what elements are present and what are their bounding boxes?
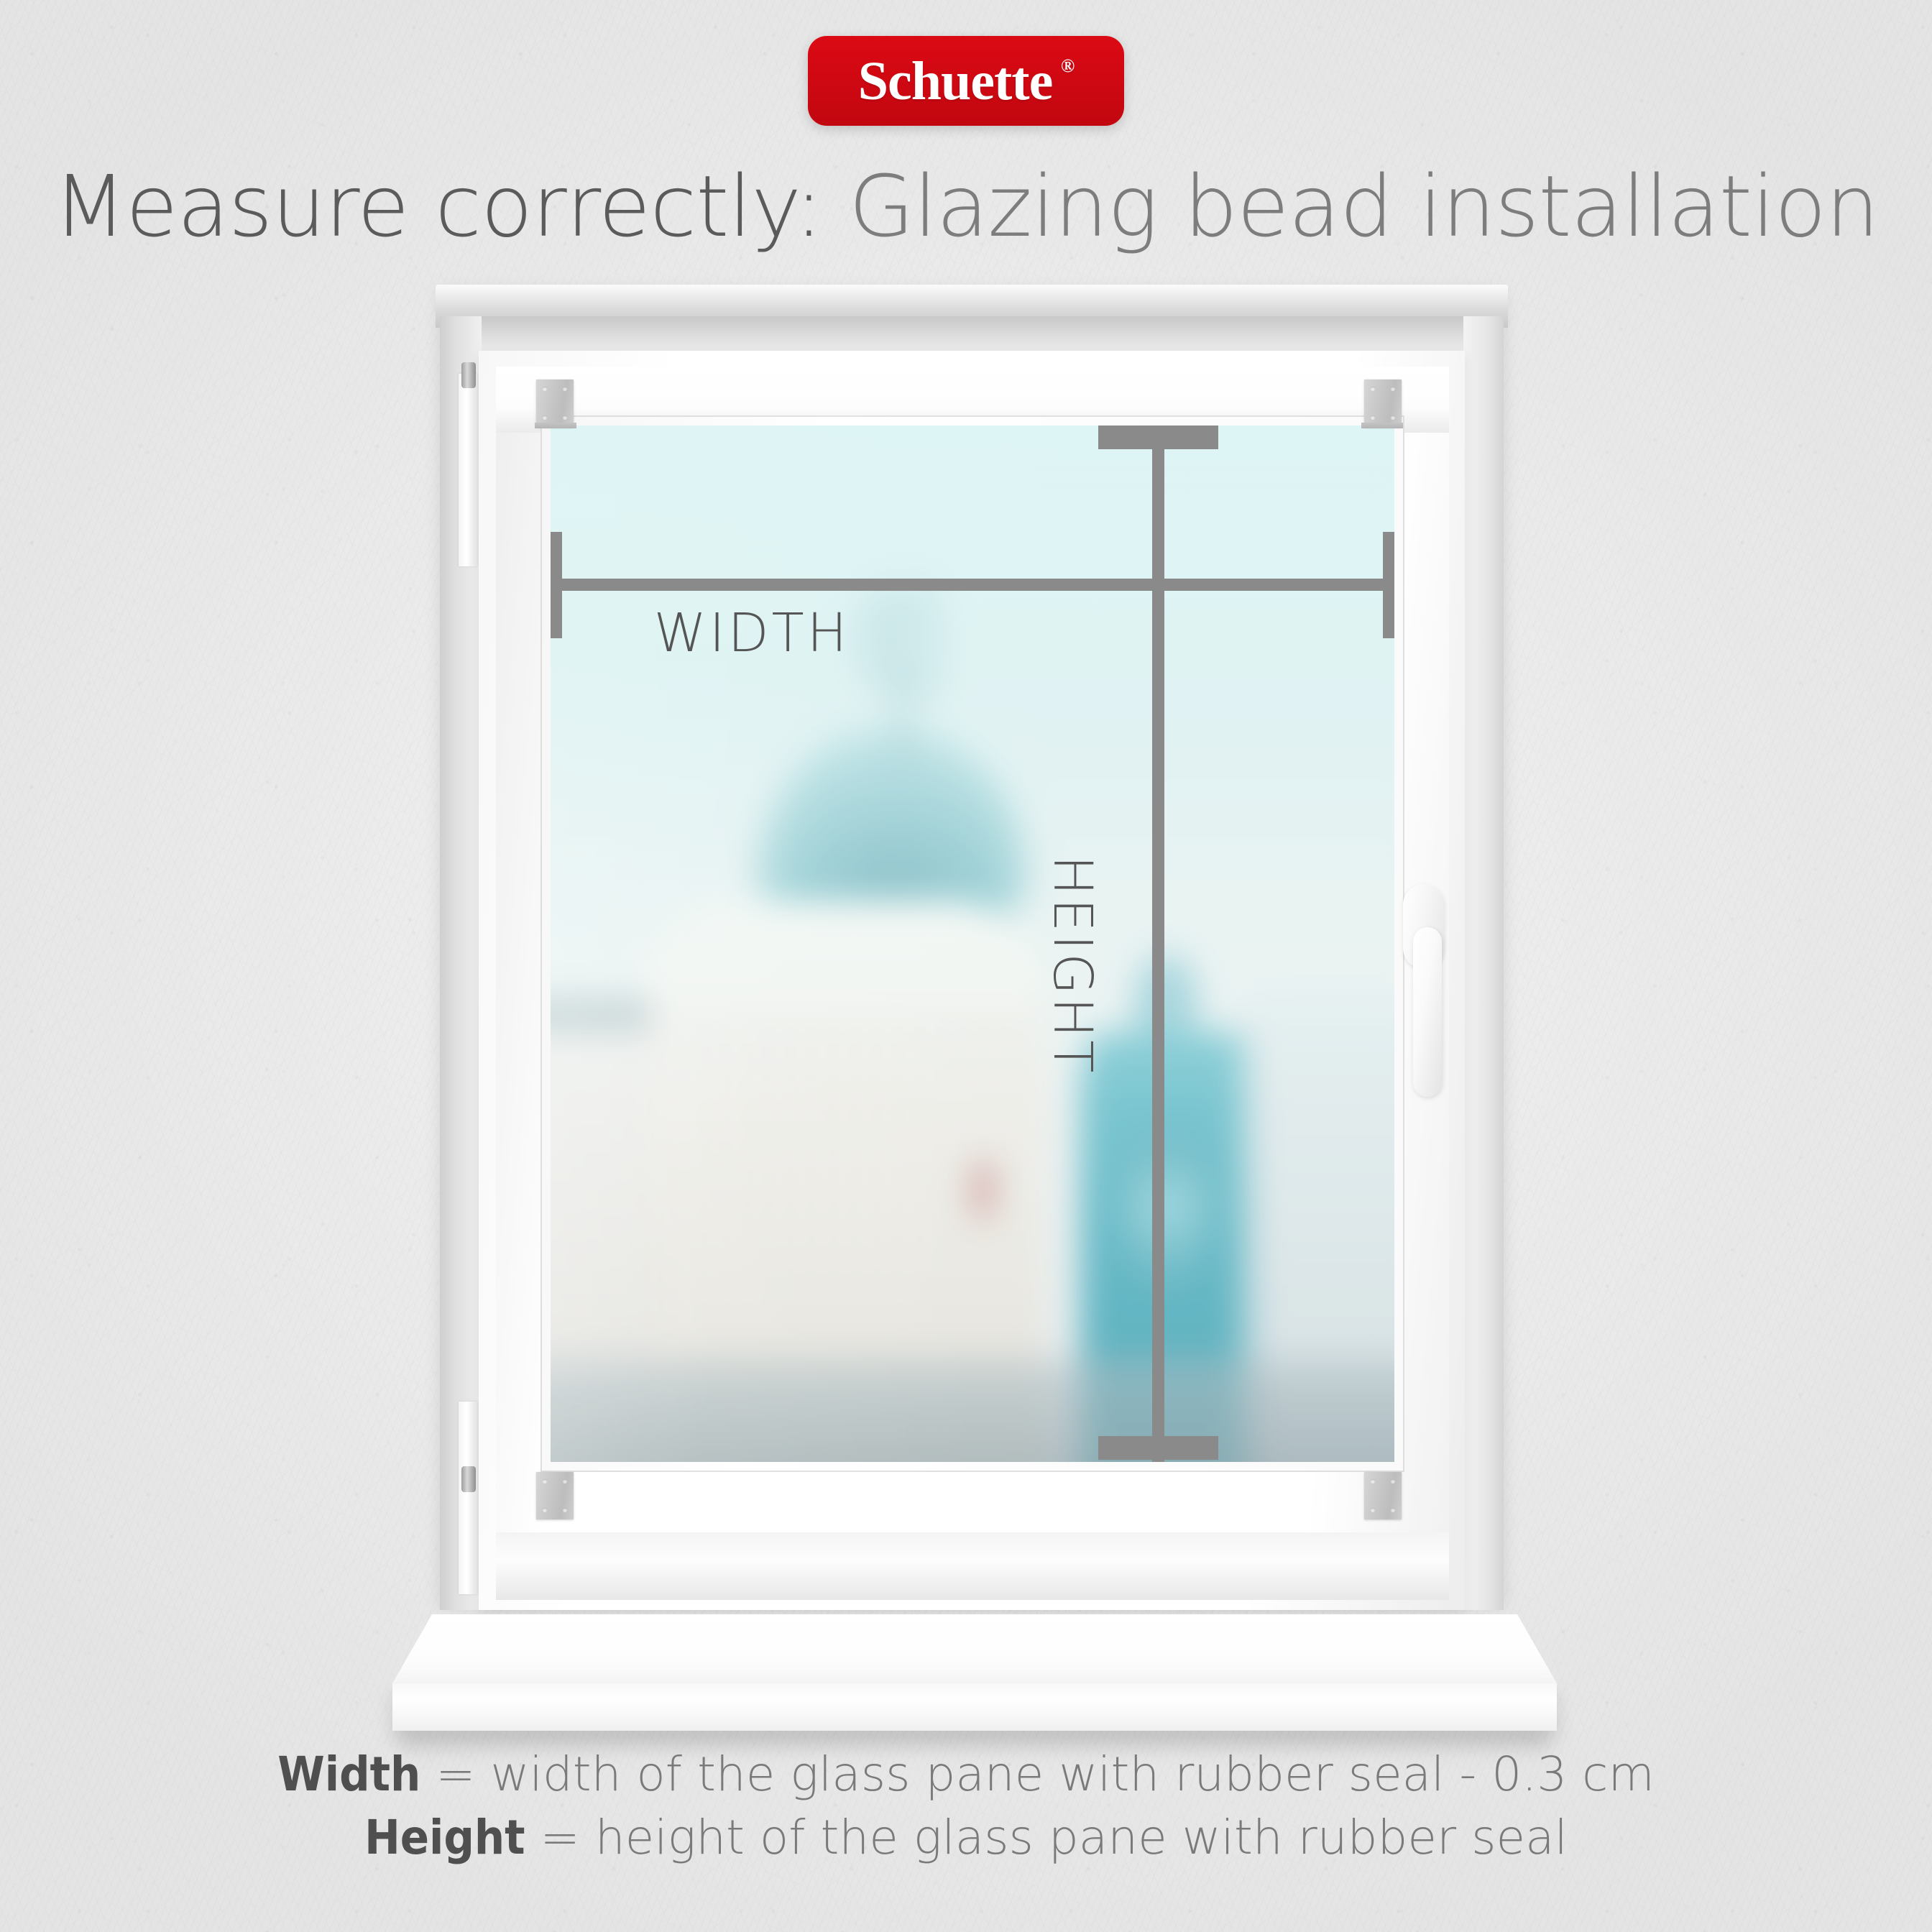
- window-diagram: WIDTH HEIGHT: [0, 0, 1932, 1932]
- width-dimension-label: WIDTH: [551, 602, 953, 664]
- legend-line-height: Height = height of the glass pane with r…: [0, 1806, 1932, 1869]
- sash-bottom-rail: [496, 1532, 1449, 1600]
- screw-hole-icon: [563, 415, 567, 420]
- height-dimension-label: HEIGHT: [1041, 855, 1103, 1075]
- mounting-bracket-bottom-left: [536, 1472, 574, 1519]
- bracket-lip-left: [535, 423, 576, 428]
- screw-hole-icon: [563, 1479, 567, 1483]
- screw-hole-icon: [543, 415, 547, 420]
- screw-hole-icon: [1371, 415, 1375, 420]
- hinge-knuckle-upper: [461, 362, 476, 388]
- windowsill-front-edge: [392, 1683, 1557, 1731]
- screw-hole-icon: [1391, 1508, 1395, 1512]
- screw-hole-icon: [1371, 387, 1375, 391]
- screw-hole-icon: [1371, 1479, 1375, 1483]
- legend-text-height: = height of the glass pane with rubber s…: [525, 1810, 1568, 1865]
- measurement-legend: Width = width of the glass pane with rub…: [0, 1743, 1932, 1870]
- window-handle-lever[interactable]: [1413, 927, 1442, 1097]
- legend-text-width: = width of the glass pane with rubber se…: [420, 1747, 1654, 1802]
- screw-hole-icon: [1391, 415, 1395, 420]
- screw-hole-icon: [1391, 1479, 1395, 1483]
- screw-hole-icon: [543, 1479, 547, 1483]
- windowsill-top: [392, 1614, 1557, 1683]
- screw-hole-icon: [563, 1508, 567, 1512]
- mounting-bracket-top-right: [1364, 379, 1402, 427]
- legend-label-height: Height: [364, 1810, 525, 1865]
- width-dimension-line: [551, 579, 1394, 591]
- screw-hole-icon: [1391, 387, 1395, 391]
- hinge-upper: [459, 374, 477, 566]
- legend-label-width: Width: [277, 1747, 420, 1802]
- hinge-lower: [459, 1402, 477, 1594]
- legend-line-width: Width = width of the glass pane with rub…: [0, 1743, 1932, 1806]
- screw-hole-icon: [1371, 1508, 1375, 1512]
- bracket-lip-right: [1361, 423, 1403, 428]
- screw-hole-icon: [563, 387, 567, 391]
- mounting-bracket-top-left: [536, 379, 574, 427]
- hinge-knuckle-lower: [461, 1466, 476, 1492]
- reveal-right-face: [1463, 316, 1504, 1610]
- height-dimension-line: [1152, 425, 1164, 1462]
- mounting-bracket-bottom-right: [1364, 1472, 1402, 1519]
- screw-hole-icon: [543, 387, 547, 391]
- screw-hole-icon: [543, 1508, 547, 1512]
